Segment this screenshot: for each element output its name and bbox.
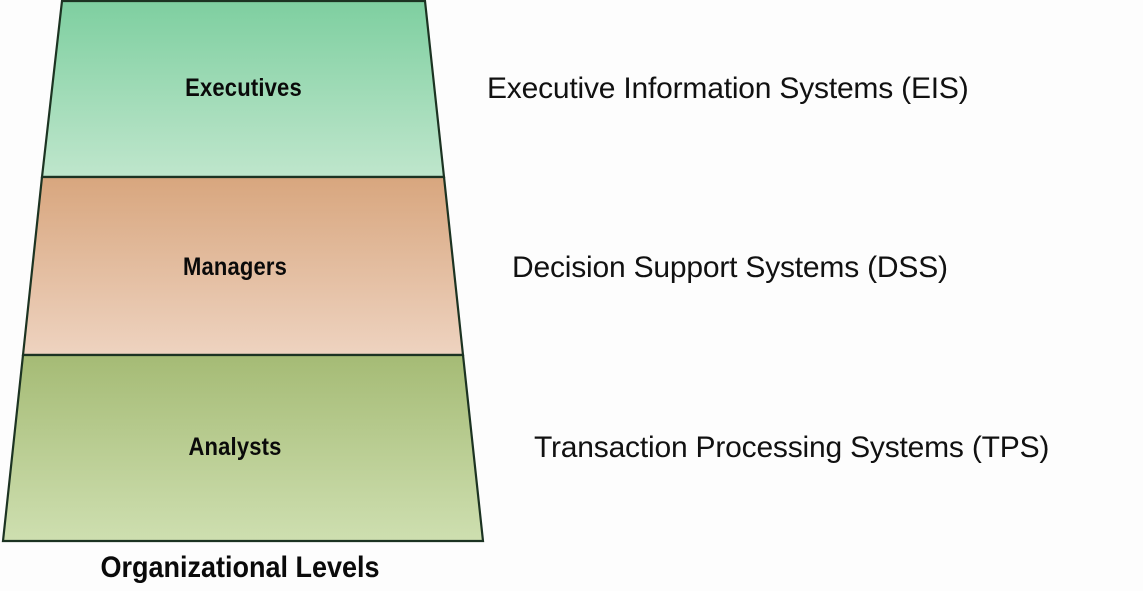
system-label-dss: Decision Support Systems (DSS) (512, 251, 948, 285)
organizational-levels-axis-label: Organizational Levels (24, 551, 456, 585)
system-label-tps: Transaction Processing Systems (TPS) (534, 431, 1049, 465)
tier-label-analysts: Analysts (28, 433, 442, 462)
tier-label-managers: Managers (28, 253, 442, 282)
system-label-eis: Executive Information Systems (EIS) (487, 72, 969, 106)
organizational-levels-diagram: Executives Managers Analysts Executive I… (0, 0, 1143, 591)
tier-label-executives: Executives (29, 74, 458, 103)
